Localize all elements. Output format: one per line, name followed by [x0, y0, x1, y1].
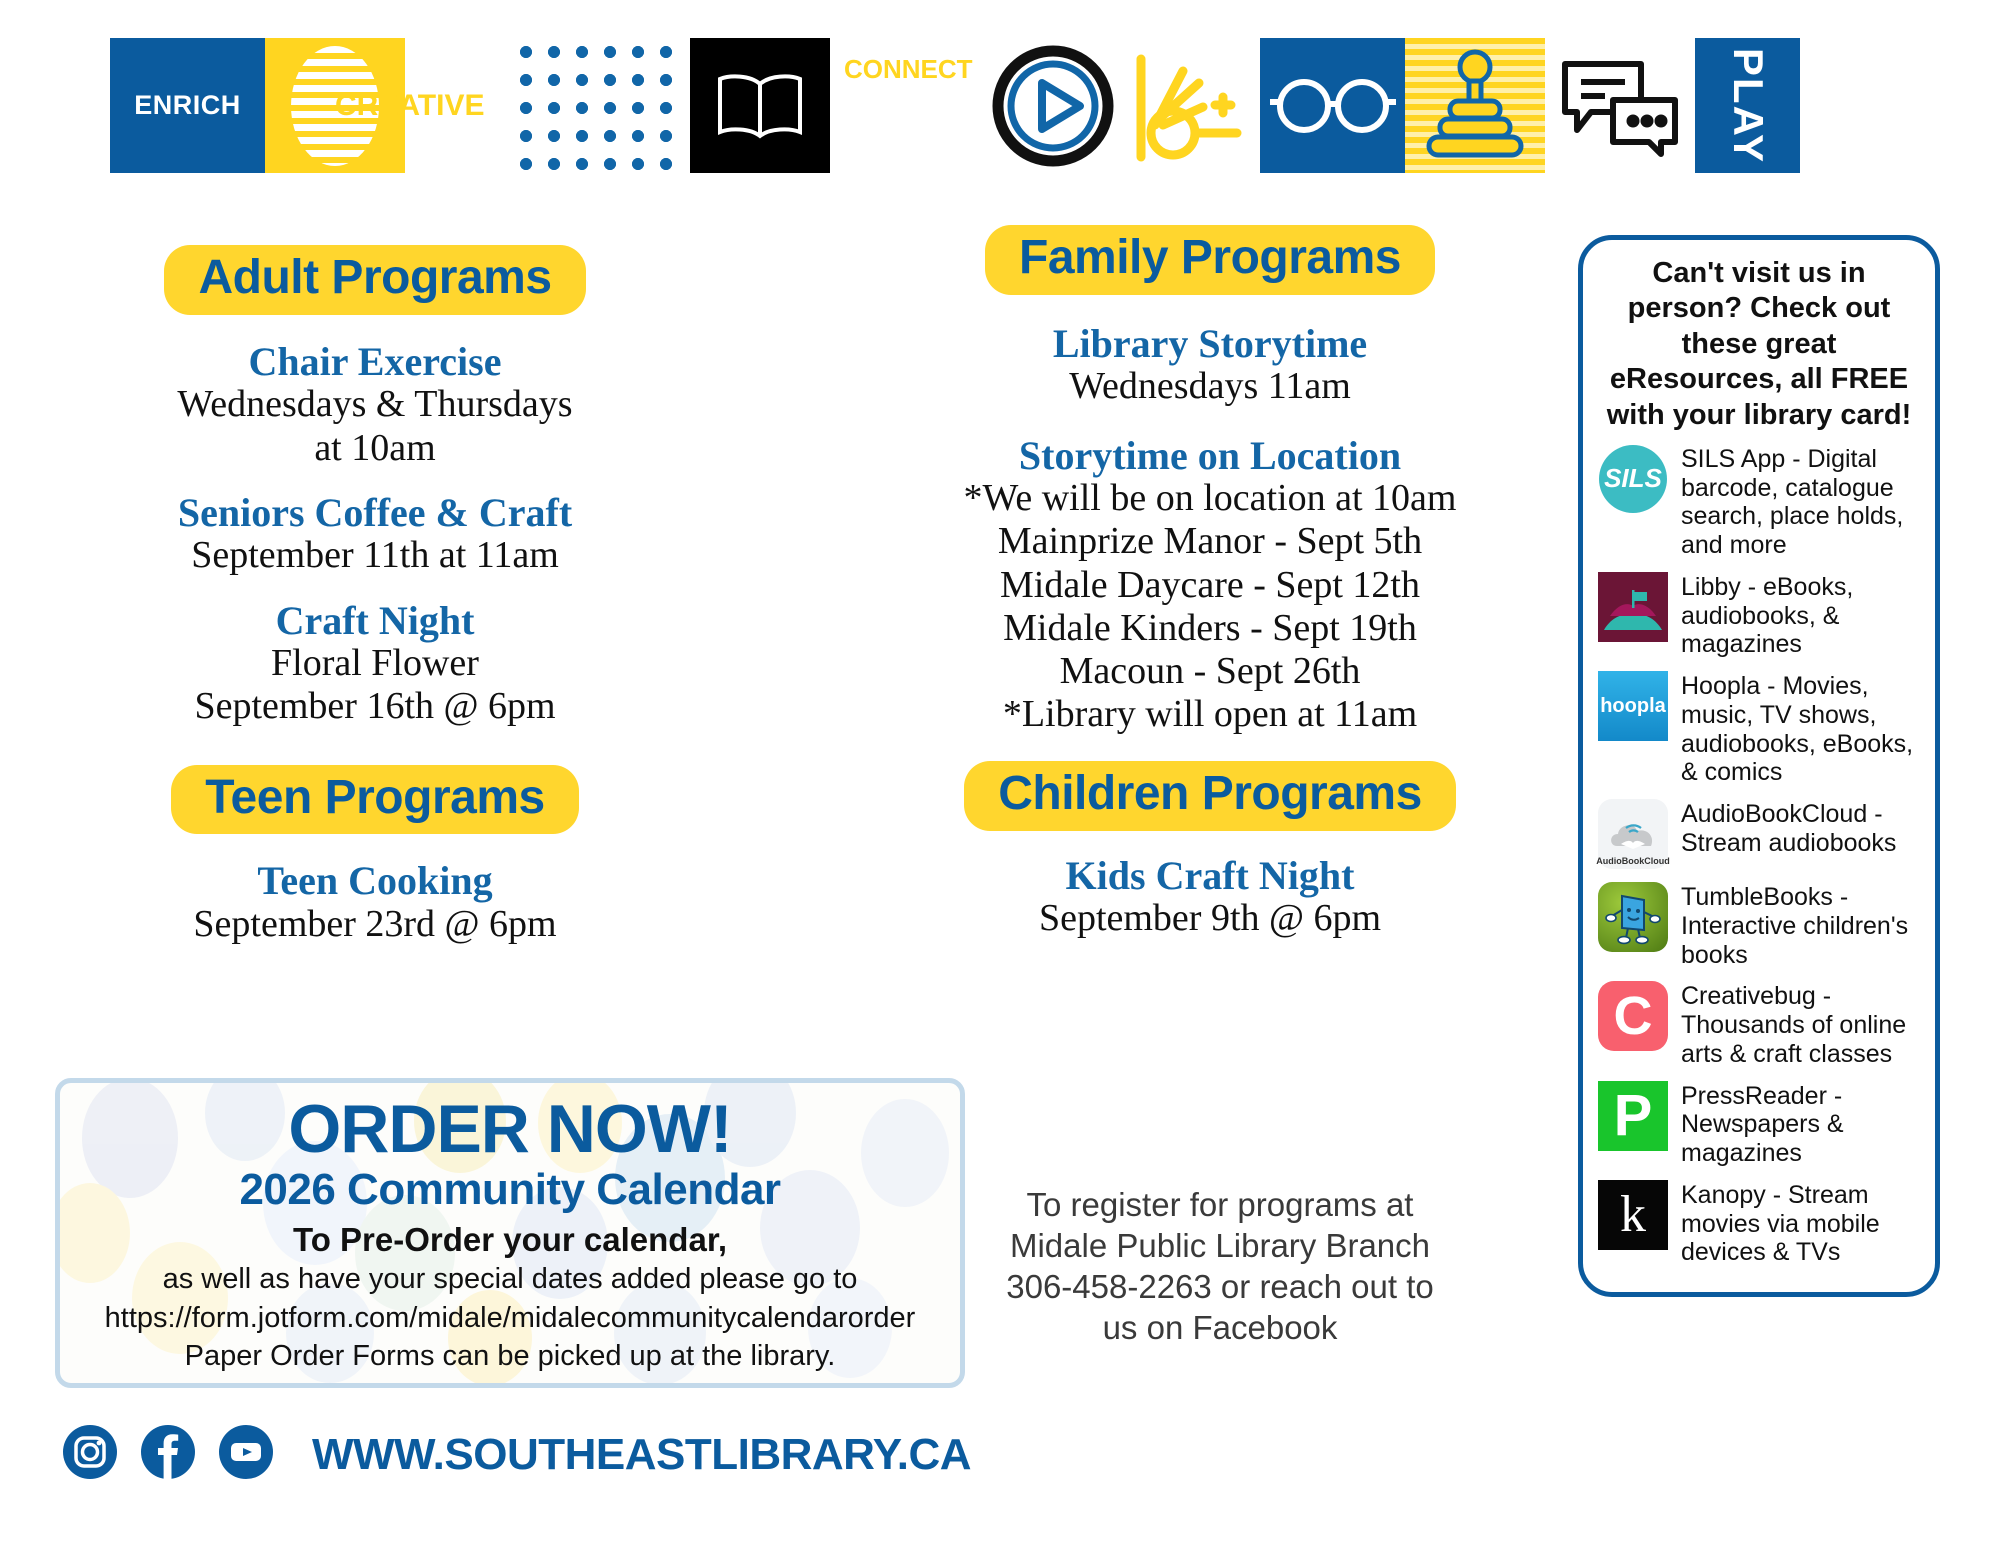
- youtube-icon[interactable]: [218, 1424, 274, 1485]
- left-column: Adult Programs Chair Exercise Wednesdays…: [55, 245, 695, 946]
- program-title: Storytime on Location: [890, 435, 1530, 477]
- adult-programs-heading-label: Adult Programs: [164, 245, 585, 315]
- program-detail-line: September 9th @ 6pm: [890, 897, 1530, 940]
- order-body-line: as well as have your special dates added…: [60, 1262, 960, 1297]
- program-detail-line: September 16th @ 6pm: [55, 685, 695, 728]
- banner-play-tile: PLAY: [1695, 38, 1800, 173]
- open-book-icon: [690, 38, 830, 173]
- order-bold-line: To Pre-Order your calendar,: [60, 1220, 960, 1260]
- registration-note-line: us on Facebook: [960, 1308, 1480, 1349]
- audiobookcloud-icon: AudioBookCloud: [1597, 798, 1669, 870]
- program-detail-line: Wednesdays & Thursdays: [55, 383, 695, 426]
- dot-grid-icon: [505, 38, 690, 173]
- eresource-item[interactable]: SILS SILS App - Digital barcode, catalog…: [1597, 443, 1921, 560]
- program-title: Teen Cooking: [55, 860, 695, 902]
- pressreader-icon: P: [1597, 1080, 1669, 1152]
- website-url[interactable]: WWW.SOUTHEASTLIBRARY.CA: [312, 1430, 971, 1480]
- program-title: Seniors Coffee & Craft: [55, 492, 695, 534]
- kanopy-icon-label: k: [1620, 1189, 1646, 1241]
- creativebug-icon-label: C: [1614, 989, 1653, 1043]
- eresource-item[interactable]: Libby - eBooks, audiobooks, & magazines: [1597, 571, 1921, 659]
- glasses-icon: [1260, 38, 1405, 173]
- program-detail-line: *We will be on location at 10am: [890, 477, 1530, 520]
- hand-snap-icon: [1120, 38, 1260, 173]
- banner-creative-label: CREATIVE: [335, 89, 484, 123]
- banner-enrich-tile: ENRICH: [110, 38, 265, 173]
- libby-icon: [1597, 571, 1669, 643]
- order-headline: ORDER NOW!: [60, 1095, 960, 1163]
- program-detail-line: September 23rd @ 6pm: [55, 903, 695, 946]
- program-detail-line: Midale Daycare - Sept 12th: [890, 564, 1530, 607]
- program-title: Chair Exercise: [55, 341, 695, 383]
- program-detail-line: Wednesdays 11am: [890, 365, 1530, 408]
- program-title: Library Storytime: [890, 323, 1530, 365]
- program-entry: Storytime on Location *We will be on loc…: [890, 435, 1530, 737]
- banner-play-label: PLAY: [1724, 47, 1772, 163]
- teen-programs-header: Teen Programs: [55, 765, 695, 835]
- program-entry: Chair Exercise Wednesdays & Thursdays at…: [55, 341, 695, 470]
- banner-connect-tile: CONNECT: [830, 38, 985, 173]
- banner-enrich-label: ENRICH: [134, 90, 241, 121]
- program-detail-line: *Library will open at 11am: [890, 693, 1530, 736]
- banner-creative-tile: CREATIVE: [405, 38, 505, 173]
- banner-connect-label: CONNECT: [844, 54, 973, 85]
- eresource-description: TumbleBooks - Interactive children's boo…: [1681, 881, 1921, 969]
- header-banner: ENRICH CREATIVE CONNECT: [110, 38, 1900, 173]
- program-entry: Craft Night Floral Flower September 16th…: [55, 600, 695, 729]
- children-programs-heading-label: Children Programs: [964, 761, 1456, 831]
- eresources-sidebar: Can't visit us in person? Check out thes…: [1578, 235, 1950, 1297]
- facebook-icon[interactable]: [140, 1424, 196, 1485]
- order-subheadline: 2026 Community Calendar: [60, 1165, 960, 1216]
- children-programs-header: Children Programs: [890, 761, 1530, 831]
- program-detail-line: Floral Flower: [55, 642, 695, 685]
- registration-note-line: To register for programs at: [960, 1185, 1480, 1226]
- family-programs-heading-label: Family Programs: [985, 225, 1435, 295]
- pressreader-icon-label: P: [1614, 1087, 1653, 1145]
- eresources-card: Can't visit us in person? Check out thes…: [1578, 235, 1940, 1297]
- hoopla-icon: hoopla: [1597, 670, 1669, 742]
- family-programs-header: Family Programs: [890, 225, 1530, 295]
- chat-bubbles-icon: [1545, 38, 1695, 173]
- program-entry: Kids Craft Night September 9th @ 6pm: [890, 855, 1530, 941]
- program-entry: Seniors Coffee & Craft September 11th at…: [55, 492, 695, 578]
- eresource-description: AudioBookCloud - Stream audiobooks: [1681, 798, 1921, 858]
- order-calendar-box[interactable]: ORDER NOW! 2026 Community Calendar To Pr…: [55, 1078, 965, 1388]
- eresource-description: Libby - eBooks, audiobooks, & magazines: [1681, 571, 1921, 659]
- adult-programs-header: Adult Programs: [55, 245, 695, 315]
- program-detail-line: Macoun - Sept 26th: [890, 650, 1530, 693]
- creativebug-icon: C: [1597, 980, 1669, 1052]
- ring-stack-toy-icon: [1405, 38, 1545, 173]
- sils-icon-label: SILS: [1604, 463, 1662, 494]
- audiobookcloud-icon-label: AudioBookCloud: [1596, 856, 1670, 866]
- program-entry: Library Storytime Wednesdays 11am: [890, 323, 1530, 409]
- eresource-item[interactable]: P PressReader - Newspapers & magazines: [1597, 1080, 1921, 1168]
- eresource-item[interactable]: C Creativebug - Thousands of online arts…: [1597, 980, 1921, 1068]
- kanopy-icon: k: [1597, 1179, 1669, 1251]
- registration-note-line: Midale Public Library Branch: [960, 1226, 1480, 1267]
- eresource-description: Kanopy - Stream movies via mobile device…: [1681, 1179, 1921, 1267]
- registration-note-line: 306-458-2263 or reach out to: [960, 1267, 1480, 1308]
- instagram-icon[interactable]: [62, 1424, 118, 1485]
- order-form-url[interactable]: https://form.jotform.com/midale/midaleco…: [60, 1301, 960, 1336]
- tumblebooks-icon: [1597, 881, 1669, 953]
- eresource-item[interactable]: TumbleBooks - Interactive children's boo…: [1597, 881, 1921, 969]
- program-detail-line: at 10am: [55, 427, 695, 470]
- eresource-description: Creativebug - Thousands of online arts &…: [1681, 980, 1921, 1068]
- program-detail-line: Midale Kinders - Sept 19th: [890, 607, 1530, 650]
- hoopla-icon-label: hoopla: [1600, 695, 1666, 718]
- order-body-line: Paper Order Forms can be picked up at th…: [60, 1339, 960, 1374]
- eresource-description: SILS App - Digital barcode, catalogue se…: [1681, 443, 1921, 560]
- middle-column: Family Programs Library Storytime Wednes…: [890, 245, 1530, 940]
- sils-app-icon: SILS: [1597, 443, 1669, 515]
- program-detail-line: September 11th at 11am: [55, 534, 695, 577]
- eresource-item[interactable]: k Kanopy - Stream movies via mobile devi…: [1597, 1179, 1921, 1267]
- program-title: Craft Night: [55, 600, 695, 642]
- eresource-description: Hoopla - Movies, music, TV shows, audiob…: [1681, 670, 1921, 787]
- registration-note: To register for programs at Midale Publi…: [960, 1185, 1480, 1349]
- program-detail-line: Mainprize Manor - Sept 5th: [890, 520, 1530, 563]
- footer-bar: WWW.SOUTHEASTLIBRARY.CA: [62, 1424, 971, 1485]
- teen-programs-heading-label: Teen Programs: [171, 765, 578, 835]
- eresources-heading: Can't visit us in person? Check out thes…: [1597, 256, 1921, 433]
- eresource-item[interactable]: hoopla Hoopla - Movies, music, TV shows,…: [1597, 670, 1921, 787]
- eresource-item[interactable]: AudioBookCloud AudioBookCloud - Stream a…: [1597, 798, 1921, 870]
- program-entry: Teen Cooking September 23rd @ 6pm: [55, 860, 695, 946]
- program-title: Kids Craft Night: [890, 855, 1530, 897]
- play-circle-icon: [985, 38, 1120, 173]
- eresource-description: PressReader - Newspapers & magazines: [1681, 1080, 1921, 1168]
